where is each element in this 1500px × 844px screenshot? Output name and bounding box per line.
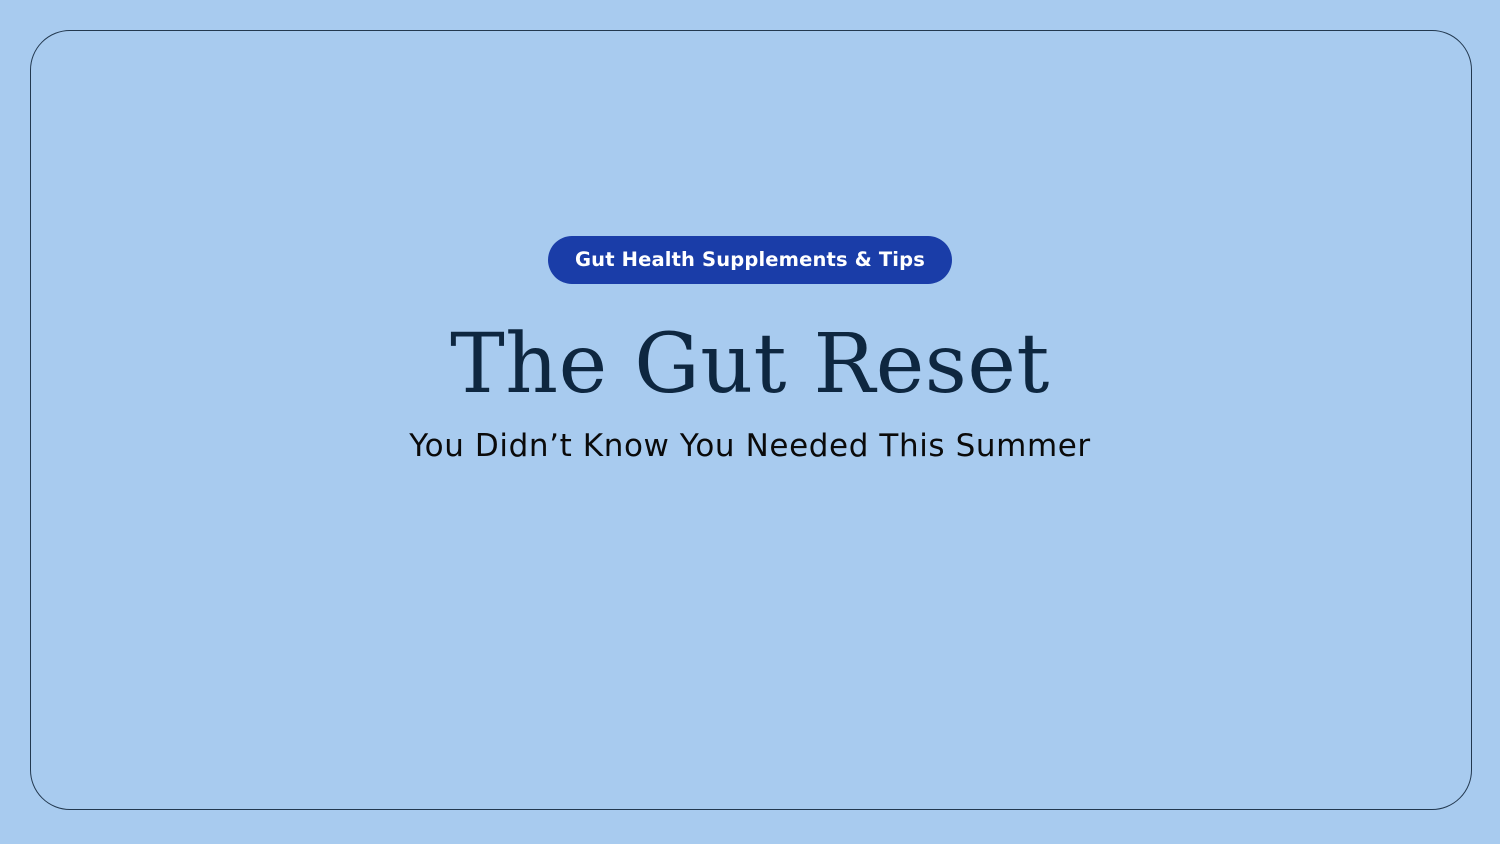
page-subtitle: You Didn’t Know You Needed This Summer xyxy=(409,428,1091,465)
slide-content: Gut Health Supplements & Tips The Gut Re… xyxy=(0,0,1500,844)
title-slide: Gut Health Supplements & Tips The Gut Re… xyxy=(0,0,1500,844)
eyebrow-badge: Gut Health Supplements & Tips xyxy=(548,236,952,284)
eyebrow-badge-label: Gut Health Supplements & Tips xyxy=(575,250,925,270)
page-title: The Gut Reset xyxy=(450,322,1050,409)
